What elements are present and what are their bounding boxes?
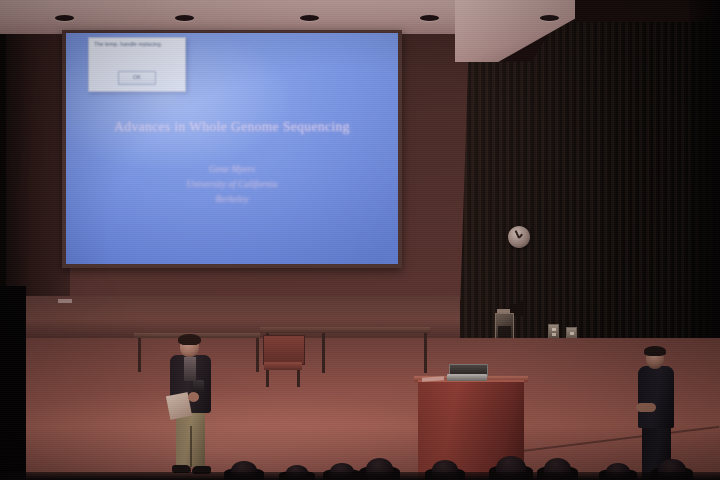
ceiling-light-2 [175,15,194,21]
back-wall-marker [58,299,72,303]
clock-minute-hand [515,230,520,238]
second-person-torso [638,366,674,428]
chair-leg [297,370,300,387]
sconce-lamp-dot [552,333,556,336]
wall-clock [508,226,530,248]
speaker-leg-separation [190,426,192,467]
second-person-at-right [634,348,686,480]
back-table-leg [424,333,427,373]
speaker-glasses [182,344,197,348]
second-person-hair [644,346,666,356]
speaker-shirt [184,357,196,381]
chair-backrest [263,335,305,365]
front-table-leg [138,338,141,372]
sconce-lamp-dot [570,332,574,335]
ceiling-light-1 [55,15,74,21]
speaker-held-object [193,380,204,393]
stage-floor [0,338,720,480]
chair-seat [264,362,302,370]
back-table-leg [322,333,325,373]
lectern [418,380,524,480]
ceiling-light-5 [540,15,559,21]
ceiling-light-3 [300,15,319,21]
sconce-lamp-dot [552,328,556,331]
presentation-laptop-base [447,374,487,381]
audience-foreground-band [0,472,720,480]
slide-affiliation: University of California [66,180,398,190]
back-table [260,327,430,333]
front-table-leg [256,338,259,372]
chair-leg [266,370,269,387]
stage-chair [263,335,303,387]
speaker-hand [188,392,199,402]
left-wall-edge [0,0,6,300]
slide-title: Advances in Whole Genome Sequencing [66,119,398,135]
speaker-standing [165,336,217,480]
ceiling-light-4 [420,15,439,21]
error-dialog[interactable]: The temp. handle replacing. OK [88,37,186,92]
left-wall [0,28,70,328]
second-person-hands [636,403,656,412]
ceiling [0,0,530,34]
video-frame: Advances in Whole Genome Sequencing Gene… [0,0,720,480]
left-dark-band [0,286,26,480]
slide-author: Gene Myers [66,165,398,175]
dialog-message-text: The temp. handle replacing. [94,42,181,49]
dialog-ok-button[interactable]: OK [118,71,156,85]
slide-location: Berkeley [66,195,398,205]
